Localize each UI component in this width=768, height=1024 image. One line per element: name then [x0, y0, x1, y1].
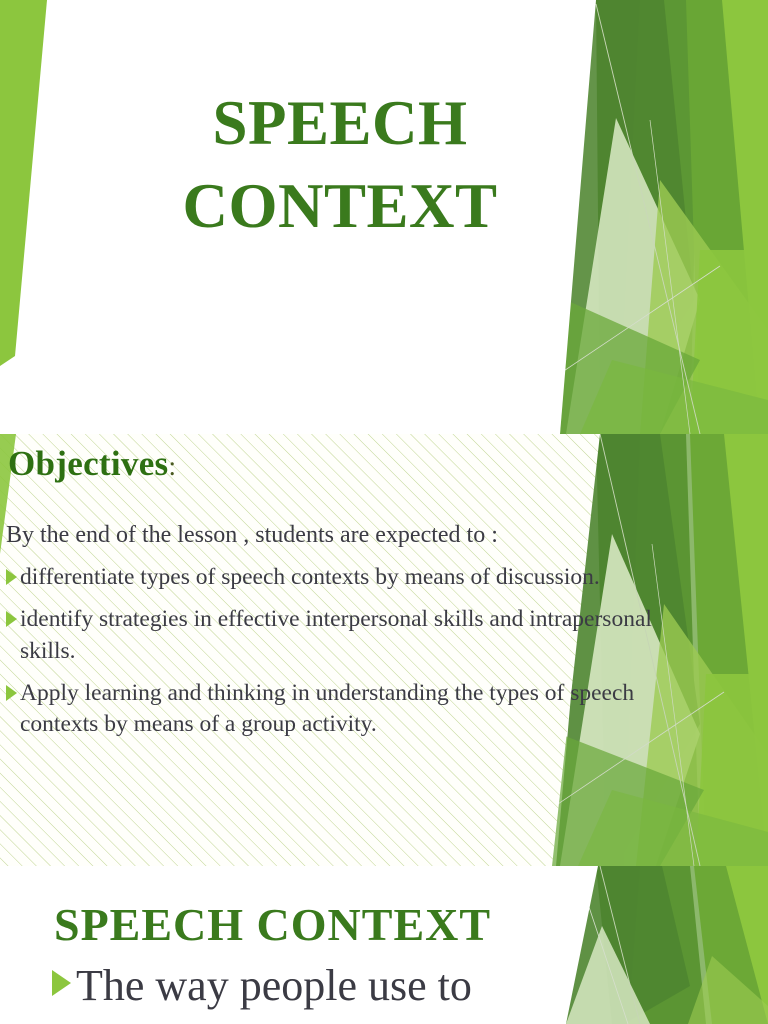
triangle-right-icon: [6, 569, 17, 585]
objectives-bullet-text: identify strategies in effective interpe…: [20, 604, 712, 667]
objectives-intro-text: By the end of the lesson , students are …: [6, 522, 498, 549]
objectives-bullet-text: Apply learning and thinking in understan…: [20, 678, 712, 741]
slide-3-bullet-list: The way people use to: [52, 958, 692, 1013]
objectives-bullet-text: differentiate types of speech contexts b…: [20, 562, 600, 593]
triangle-right-icon: [52, 970, 71, 996]
objectives-heading: Objectives:: [8, 444, 176, 484]
slide-3-bullet-text: The way people use to: [76, 958, 472, 1013]
slide-1-title-line-2: CONTEXT: [60, 165, 620, 248]
list-item: differentiate types of speech contexts b…: [6, 562, 712, 593]
objectives-bullet-list: differentiate types of speech contexts b…: [6, 562, 712, 751]
triangle-right-icon: [6, 685, 17, 701]
triangle-right-icon: [6, 611, 17, 627]
slide-1-title-line-1: SPEECH: [60, 82, 620, 165]
slide-deck: SPEECH CONTEXT: [0, 0, 768, 1024]
list-item: The way people use to: [52, 958, 692, 1013]
slide-1-title: SPEECH CONTEXT: [60, 82, 620, 248]
objectives-heading-text: Objectives: [8, 444, 168, 483]
objectives-heading-colon: :: [168, 451, 176, 481]
list-item: identify strategies in effective interpe…: [6, 604, 712, 667]
list-item: Apply learning and thinking in understan…: [6, 678, 712, 741]
slide-3-title: SPEECH CONTEXT: [54, 898, 491, 951]
